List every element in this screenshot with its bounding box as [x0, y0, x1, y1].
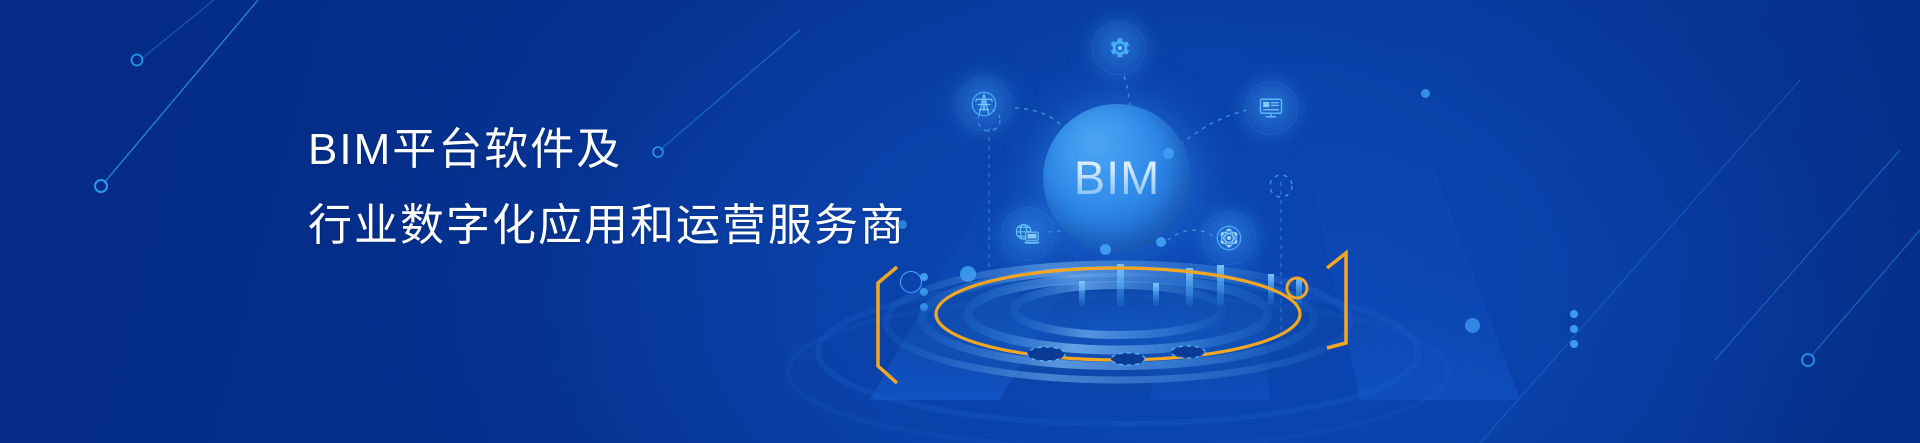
- hero-banner: BIM平台软件及 行业数字化应用和运营服务商 BIM: [0, 0, 1920, 443]
- radar-platform: [0, 0, 1920, 443]
